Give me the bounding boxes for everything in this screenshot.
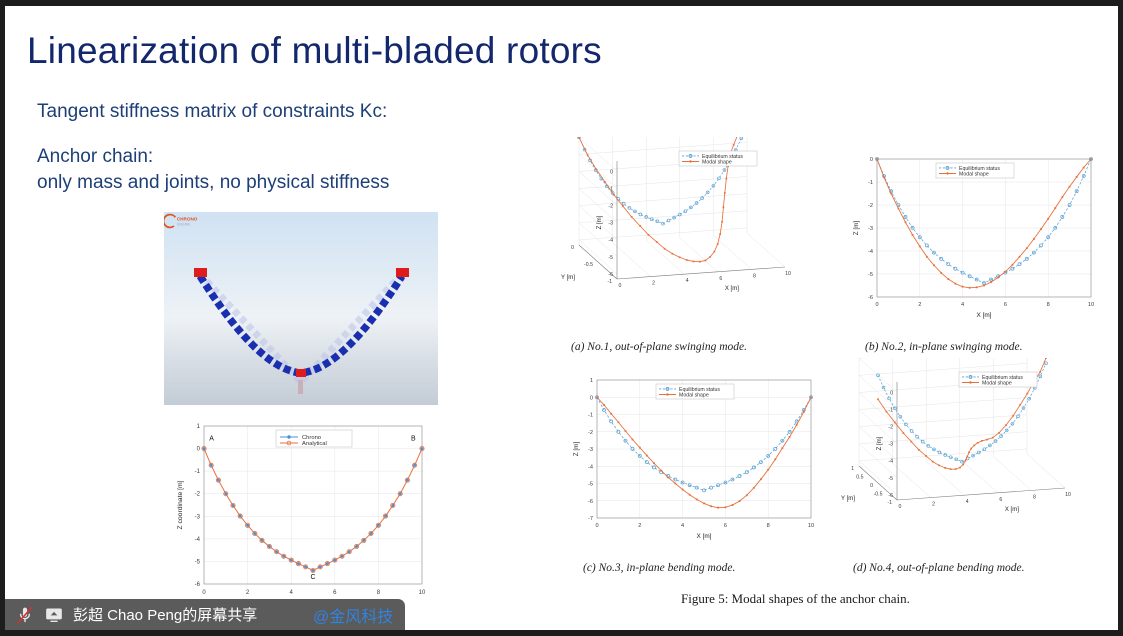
caption-panel-c: (c) No.3, in-plane bending mode. <box>583 562 735 574</box>
svg-text:10: 10 <box>785 271 791 277</box>
chrono-simulation-viewport: CHRONO ENGINE <box>164 212 438 405</box>
subtitle-anchor-chain: Anchor chain: <box>37 146 153 168</box>
microphone-muted-icon[interactable] <box>15 605 35 625</box>
screen-share-icon[interactable] <box>44 605 64 625</box>
svg-text:0: 0 <box>619 283 622 289</box>
svg-text:X [m]: X [m] <box>697 533 712 540</box>
svg-text:6: 6 <box>1004 302 1007 308</box>
validation-chart: 024681010-1-2-3-4-5-6X coordinate [m]Z c… <box>164 412 438 624</box>
modal-panel-b: 02468100-1-2-3-4-5-6X [m]Z [m]Equilibriu… <box>841 137 1103 333</box>
svg-text:-4: -4 <box>868 249 873 255</box>
svg-text:-1: -1 <box>195 469 201 475</box>
svg-text:-2: -2 <box>868 203 873 209</box>
svg-text:Modal shape: Modal shape <box>702 159 732 165</box>
svg-text:-3: -3 <box>868 226 873 232</box>
svg-text:8: 8 <box>1033 494 1036 500</box>
svg-text:X [m]: X [m] <box>725 286 739 292</box>
share-status-text: 彭超 Chao Peng的屏幕共享 <box>73 604 257 625</box>
svg-text:-5: -5 <box>608 255 613 261</box>
svg-text:4: 4 <box>681 523 684 529</box>
bottom-stem <box>298 380 303 394</box>
svg-text:0: 0 <box>197 447 201 453</box>
svg-text:Z [m]: Z [m] <box>853 221 860 236</box>
anchor-left <box>194 268 207 277</box>
svg-text:0: 0 <box>890 390 893 396</box>
svg-text:2: 2 <box>918 302 921 308</box>
caption-panel-d: (d) No.4, out-of-plane bending mode. <box>853 562 1025 574</box>
svg-text:-5: -5 <box>888 476 893 482</box>
chrono-logo-icon: CHRONO ENGINE <box>164 212 204 230</box>
svg-text:-3: -3 <box>608 221 613 227</box>
svg-text:-4: -4 <box>888 459 893 465</box>
svg-text:-1: -1 <box>607 279 612 285</box>
svg-text:-0.5: -0.5 <box>874 492 883 498</box>
svg-text:X [m]: X [m] <box>1005 507 1019 513</box>
svg-text:-3: -3 <box>195 514 201 520</box>
svg-text:-2: -2 <box>195 492 201 498</box>
svg-text:10: 10 <box>419 590 426 596</box>
svg-text:-6: -6 <box>888 493 893 499</box>
svg-text:-5: -5 <box>195 559 201 565</box>
svg-text:-2: -2 <box>888 424 893 430</box>
page-title: Linearization of multi-bladed rotors <box>27 30 602 72</box>
svg-text:-6: -6 <box>588 499 593 505</box>
svg-text:-1: -1 <box>887 500 892 506</box>
svg-text:Z [m]: Z [m] <box>877 436 883 450</box>
svg-text:0: 0 <box>870 483 873 489</box>
svg-text:Z [m]: Z [m] <box>597 215 603 229</box>
svg-text:-2: -2 <box>608 203 613 209</box>
subtitle-anchor-chain-detail: only mass and joints, no physical stiffn… <box>37 172 389 194</box>
svg-text:0: 0 <box>899 504 902 510</box>
svg-text:0: 0 <box>202 590 206 596</box>
svg-text:6: 6 <box>724 523 727 529</box>
svg-text:2: 2 <box>246 590 250 596</box>
svg-text:-5: -5 <box>588 482 593 488</box>
svg-text:-4: -4 <box>195 537 201 543</box>
svg-text:4: 4 <box>686 278 689 284</box>
chain-simulation-svg <box>164 212 438 405</box>
svg-text:-6: -6 <box>195 582 201 588</box>
modal-panel-c: 024681010-1-2-3-4-5-6-7X [m]Z [m]Equilib… <box>561 358 823 554</box>
svg-text:-4: -4 <box>608 238 613 244</box>
svg-text:X [m]: X [m] <box>977 312 992 319</box>
ghost-chain <box>200 274 402 382</box>
svg-text:-3: -3 <box>888 442 893 448</box>
svg-text:0.5: 0.5 <box>856 475 863 481</box>
svg-text:Analytical: Analytical <box>302 441 327 447</box>
svg-text:Y [m]: Y [m] <box>561 275 575 281</box>
subtitle-stiffness-matrix: Tangent stiffness matrix of constraints … <box>37 101 387 123</box>
svg-text:Modal shape: Modal shape <box>679 392 709 398</box>
svg-text:10: 10 <box>1065 492 1071 498</box>
svg-text:4: 4 <box>290 590 294 596</box>
screen-frame: Linearization of multi-bladed rotors Tan… <box>0 0 1123 636</box>
figure-caption: Figure 5: Modal shapes of the anchor cha… <box>681 591 910 607</box>
svg-text:-0.5: -0.5 <box>584 262 593 268</box>
svg-text:0: 0 <box>590 395 593 401</box>
svg-text:8: 8 <box>767 523 770 529</box>
svg-text:-6: -6 <box>868 295 873 301</box>
svg-text:0: 0 <box>610 169 613 175</box>
svg-text:6: 6 <box>719 276 722 282</box>
svg-text:Z [m]: Z [m] <box>573 442 580 457</box>
svg-text:CHRONO: CHRONO <box>177 216 198 221</box>
svg-text:1: 1 <box>851 466 854 472</box>
watermark-handle: @金风科技 <box>313 603 393 627</box>
modal-panel-d: 024681010.50-0.5-10-1-2-3-4-5-6X [m]Y [m… <box>841 358 1103 554</box>
svg-text:2: 2 <box>652 281 655 287</box>
svg-text:-6: -6 <box>608 272 613 278</box>
svg-text:8: 8 <box>377 590 381 596</box>
svg-text:-2: -2 <box>588 430 593 436</box>
svg-text:Modal shape: Modal shape <box>982 380 1012 386</box>
svg-text:1: 1 <box>590 378 593 384</box>
svg-text:-7: -7 <box>588 516 593 522</box>
svg-text:6: 6 <box>333 590 337 596</box>
svg-text:4: 4 <box>966 499 969 505</box>
presentation-slide: Linearization of multi-bladed rotors Tan… <box>5 6 1118 630</box>
svg-text:-3: -3 <box>588 447 593 453</box>
svg-text:10: 10 <box>1088 302 1094 308</box>
svg-text:0: 0 <box>870 157 873 163</box>
svg-text:-1: -1 <box>588 413 593 419</box>
svg-text:Z coordinate [m]: Z coordinate [m] <box>177 480 184 529</box>
svg-text:-1: -1 <box>868 180 873 186</box>
svg-text:8: 8 <box>753 273 756 279</box>
svg-text:1: 1 <box>197 424 201 430</box>
anchor-bottom <box>296 369 306 377</box>
modal-panel-a: 02468100-0.5-10-1-2-3-4-5-6X [m]Y [m]Z [… <box>561 137 823 333</box>
svg-text:Y [m]: Y [m] <box>841 496 855 502</box>
caption-panel-b: (b) No.2, in-plane swinging mode. <box>865 341 1022 353</box>
svg-text:10: 10 <box>808 523 814 529</box>
chain-nodes <box>200 276 402 373</box>
svg-text:2: 2 <box>932 502 935 508</box>
svg-text:4: 4 <box>961 302 964 308</box>
svg-text:0: 0 <box>571 245 574 251</box>
svg-text:6: 6 <box>999 497 1002 503</box>
svg-text:8: 8 <box>1047 302 1050 308</box>
svg-text:-4: -4 <box>588 464 593 470</box>
svg-text:0: 0 <box>875 302 878 308</box>
svg-text:2: 2 <box>638 523 641 529</box>
svg-text:B: B <box>411 436 416 443</box>
svg-text:ENGINE: ENGINE <box>177 222 191 226</box>
svg-text:0: 0 <box>595 523 598 529</box>
svg-text:C: C <box>310 574 315 581</box>
svg-text:-1: -1 <box>888 407 893 413</box>
caption-panel-a: (a) No.1, out-of-plane swinging mode. <box>571 341 747 353</box>
svg-text:Modal shape: Modal shape <box>959 171 989 177</box>
svg-text:-5: -5 <box>868 272 873 278</box>
svg-text:A: A <box>209 436 214 443</box>
anchor-right <box>396 268 409 277</box>
